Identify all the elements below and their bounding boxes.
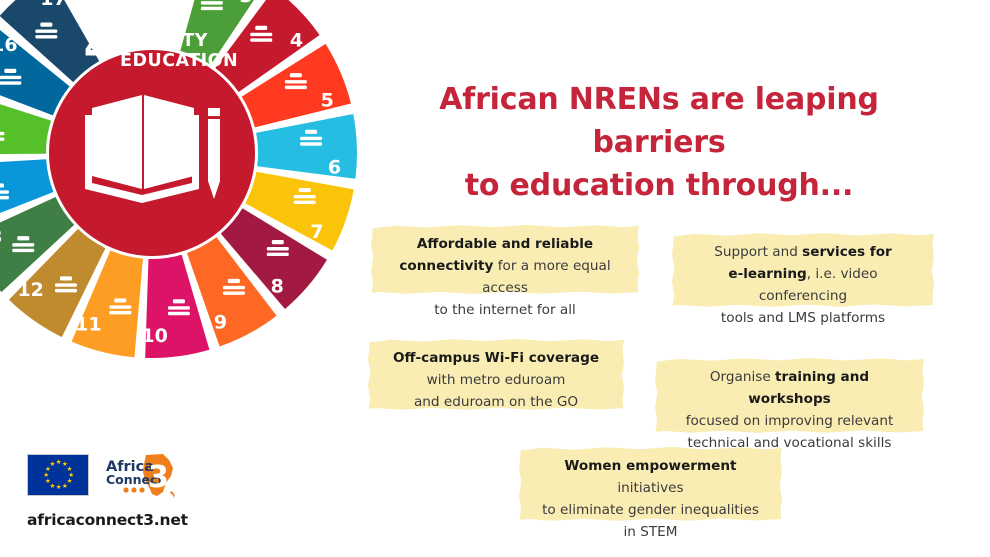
highlight-text-line: and eduroam on the GO bbox=[380, 391, 612, 413]
logo-dot bbox=[139, 487, 144, 492]
body-text: with metro eduroam bbox=[427, 372, 566, 388]
site-url-text: africaconnect3.net bbox=[27, 511, 188, 529]
sdg-segment-number-13: 13 bbox=[0, 226, 3, 248]
sdg-segment-number-10: 10 bbox=[141, 325, 167, 347]
africa-tail-shape bbox=[170, 491, 175, 498]
highlight-text-line: focused on improving relevant bbox=[667, 410, 912, 432]
highlight-box-text: Affordable and reliableconnectivity for … bbox=[383, 233, 627, 321]
highlight-text-line: with metro eduroam bbox=[380, 369, 612, 391]
sdg-segment-number-4: 4 bbox=[290, 30, 303, 52]
highlight-box-women-empowerment: Women empowerment initiativesto eliminat… bbox=[519, 446, 782, 521]
body-text: and eduroam on the GO bbox=[414, 394, 578, 410]
body-text: Support and bbox=[714, 244, 802, 260]
highlight-box-text: Off-campus Wi-Fi coveragewith metro edur… bbox=[380, 347, 612, 413]
highlight-text-line: Support and services for bbox=[684, 241, 922, 263]
page-title: African NRENs are leaping barriers to ed… bbox=[372, 78, 946, 208]
european-union-flag-icon: ★★★★★★★★★★★★ bbox=[27, 454, 89, 496]
sdg-wheel: 34567891011121314151617 4 QUALITY EDUCAT… bbox=[0, 0, 362, 363]
logo-row: ★★★★★★★★★★★★ Africa Connect 3 bbox=[27, 452, 188, 498]
footer: ★★★★★★★★★★★★ Africa Connect 3 africaconn… bbox=[27, 452, 188, 529]
highlight-box-text: Organise training and workshopsfocused o… bbox=[667, 366, 912, 454]
sdg-segment-number-16: 16 bbox=[0, 34, 18, 56]
sdg-segment-number-7: 7 bbox=[310, 221, 323, 243]
sdg-segment-number-11: 11 bbox=[75, 314, 101, 336]
sdg-hub-number: 4 bbox=[84, 23, 113, 71]
highlight-text-line: Off-campus Wi-Fi coverage bbox=[380, 347, 612, 369]
body-text: Organise bbox=[710, 369, 775, 385]
sdg-segment-number-3: 3 bbox=[239, 0, 252, 7]
headline-line-1: African NRENs are leaping barriers bbox=[372, 78, 946, 164]
emphasis-text: e-learning bbox=[728, 266, 806, 282]
body-text: initiatives bbox=[617, 480, 683, 496]
highlight-box-connectivity: Affordable and reliableconnectivity for … bbox=[371, 224, 639, 294]
emphasis-text: connectivity bbox=[399, 258, 493, 274]
highlight-box-elearning: Support and services fore-learning, i.e.… bbox=[672, 232, 934, 307]
highlight-text-line: in STEM bbox=[531, 521, 770, 543]
body-text: for a more equal access bbox=[482, 258, 611, 296]
logo-dot bbox=[123, 487, 128, 492]
emphasis-text: services for bbox=[802, 244, 892, 260]
body-text: tools and LMS platforms bbox=[721, 310, 885, 326]
emphasis-text: Affordable and reliable bbox=[417, 236, 593, 252]
emphasis-text: Women empowerment bbox=[564, 458, 736, 474]
body-text: to eliminate gender inequalities bbox=[542, 502, 759, 518]
highlight-text-line: connectivity for a more equal access bbox=[383, 255, 627, 299]
highlight-text-line: to eliminate gender inequalities bbox=[531, 499, 770, 521]
highlight-text-line: Organise training and workshops bbox=[667, 366, 912, 410]
sdg-segment-number-6: 6 bbox=[328, 156, 341, 178]
headline-line-2: to education through... bbox=[372, 164, 946, 207]
body-text: technical and vocational skills bbox=[688, 435, 892, 451]
sdg-segment-6 bbox=[256, 114, 357, 179]
highlight-text-line: to the internet for all bbox=[383, 299, 627, 321]
emphasis-text: Off-campus Wi-Fi coverage bbox=[393, 350, 599, 366]
body-text: focused on improving relevant bbox=[686, 413, 894, 429]
highlight-text-line: e-learning, i.e. video conferencing bbox=[684, 263, 922, 307]
highlight-text-line: Women empowerment initiatives bbox=[531, 455, 770, 499]
sdg-hub-title-line2: EDUCATION bbox=[120, 51, 238, 71]
highlight-box-training: Organise training and workshopsfocused o… bbox=[655, 357, 924, 433]
body-text: in STEM bbox=[624, 524, 678, 540]
africaconnect-numeral: 3 bbox=[148, 460, 169, 495]
highlight-box-text: Women empowerment initiativesto eliminat… bbox=[531, 455, 770, 543]
highlight-text-line: technical and vocational skills bbox=[667, 432, 912, 454]
africaconnect3-logo: Africa Connect 3 bbox=[105, 452, 183, 498]
highlight-text-line: tools and LMS platforms bbox=[684, 307, 922, 329]
sdg-hub-title-line1: QUALITY bbox=[120, 31, 208, 51]
highlight-text-line: Affordable and reliable bbox=[383, 233, 627, 255]
sdg-segment-number-17: 17 bbox=[40, 0, 66, 10]
body-text: to the internet for all bbox=[434, 302, 576, 318]
sdg-segment-number-9: 9 bbox=[214, 312, 227, 334]
sdg-segment-number-12: 12 bbox=[17, 279, 43, 301]
highlight-box-wifi: Off-campus Wi-Fi coveragewith metro edur… bbox=[368, 338, 624, 410]
logo-dot bbox=[131, 487, 136, 492]
sdg-segment-number-8: 8 bbox=[271, 275, 284, 297]
highlight-box-text: Support and services fore-learning, i.e.… bbox=[684, 241, 922, 329]
sdg-segment-number-5: 5 bbox=[321, 89, 334, 111]
